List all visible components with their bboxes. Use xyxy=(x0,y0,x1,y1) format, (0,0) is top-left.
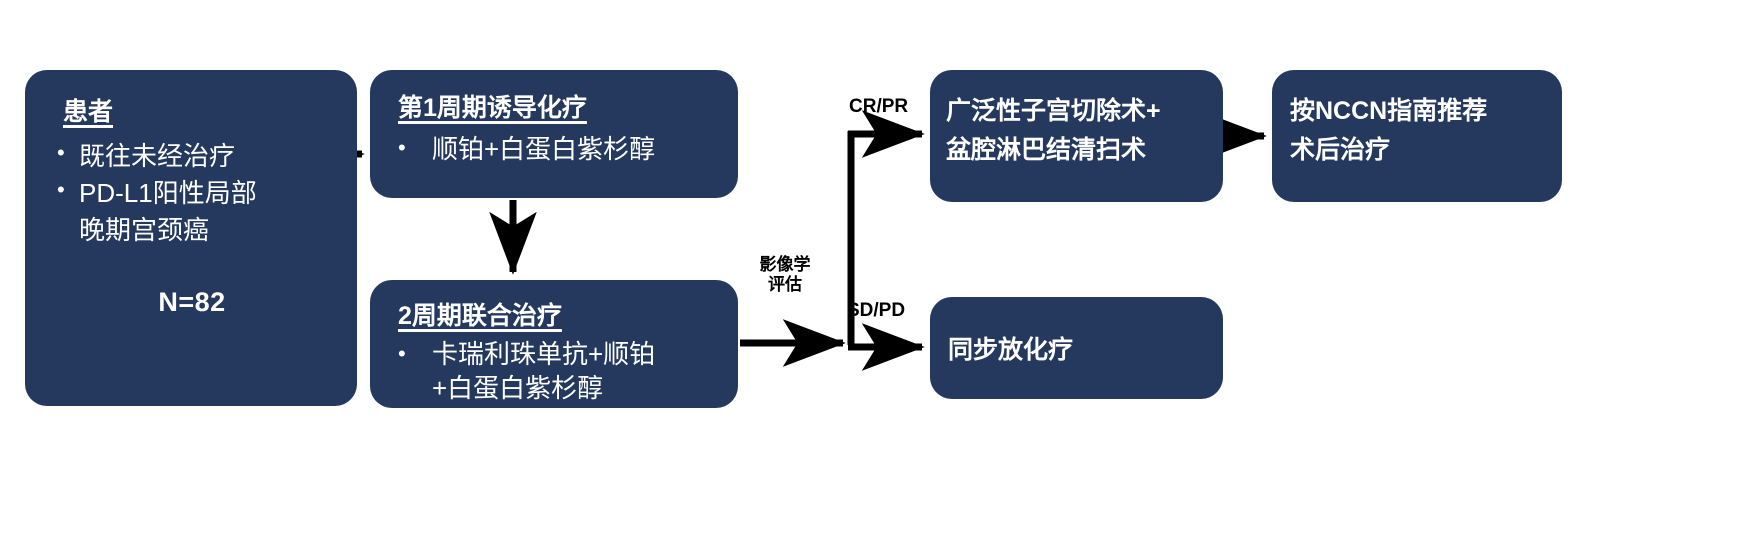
edge-label-imaging-line-2: 评估 xyxy=(748,275,822,295)
bullet-glyph-icon: • xyxy=(398,132,432,159)
node-combination-bullet-1-line-1: 卡瑞利珠单抗+顺铂 xyxy=(432,339,655,369)
node-induction-title: 第1周期诱导化疗 xyxy=(398,88,722,124)
node-induction-bullet-1-text: 顺铂+白蛋白紫杉醇 xyxy=(432,132,722,167)
node-nccn-line-2: 术后治疗 xyxy=(1290,131,1548,170)
node-patients-sample-size: N=82 xyxy=(47,287,337,318)
edge-label-imaging-line-1: 影像学 xyxy=(748,255,822,275)
flowchart-canvas: 患者 • 既往未经治疗 • PD-L1阳性局部 晚期宫颈癌 N=82 第1周期诱… xyxy=(0,0,1738,537)
node-nccn-line-1: 按NCCN指南推荐 xyxy=(1290,92,1548,131)
node-patients-bullet-2-line-2: 晚期宫颈癌 xyxy=(79,215,209,245)
bullet-glyph-icon: • xyxy=(398,338,432,365)
node-concurrent-chemoradiotherapy[interactable]: 同步放化疗 xyxy=(930,297,1223,399)
edge-label-sdpd: SD/PD xyxy=(847,300,905,322)
node-patients-bullet-2-line-1: PD-L1阳性局部 xyxy=(79,178,257,208)
node-combination-title: 2周期联合治疗 xyxy=(398,296,724,332)
bullet-glyph-icon: • xyxy=(57,138,79,164)
node-combination-bullet-1-line-2: +白蛋白紫杉醇 xyxy=(432,373,603,403)
node-combination-bullet-1: • 卡瑞利珠单抗+顺铂 +白蛋白紫杉醇 xyxy=(398,338,724,406)
node-combination-therapy[interactable]: 2周期联合治疗 • 卡瑞利珠单抗+顺铂 +白蛋白紫杉醇 xyxy=(370,280,738,408)
node-patients-bullet-2-text: PD-L1阳性局部 晚期宫颈癌 xyxy=(79,175,337,249)
edge-label-imaging-assessment: 影像学 评估 xyxy=(748,255,822,294)
node-nccn-postop-therapy[interactable]: 按NCCN指南推荐 术后治疗 xyxy=(1272,70,1562,202)
node-patients-title: 患者 xyxy=(63,92,337,128)
node-patients-bullet-2: • PD-L1阳性局部 晚期宫颈癌 xyxy=(57,175,337,249)
node-ccrt-text: 同步放化疗 xyxy=(948,330,1073,366)
node-patients-bullet-1: • 既往未经治疗 xyxy=(57,138,337,175)
edge-label-crpr: CR/PR xyxy=(849,96,908,118)
node-induction-chemo[interactable]: 第1周期诱导化疗 • 顺铂+白蛋白紫杉醇 xyxy=(370,70,738,198)
node-surgery-line-2: 盆腔淋巴结清扫术 xyxy=(946,131,1209,170)
node-patients[interactable]: 患者 • 既往未经治疗 • PD-L1阳性局部 晚期宫颈癌 N=82 xyxy=(25,70,357,406)
node-induction-bullet-1: • 顺铂+白蛋白紫杉醇 xyxy=(398,132,722,167)
node-radical-surgery[interactable]: 广泛性子宫切除术+ 盆腔淋巴结清扫术 xyxy=(930,70,1223,202)
node-combination-bullet-1-text: 卡瑞利珠单抗+顺铂 +白蛋白紫杉醇 xyxy=(432,338,724,406)
bullet-glyph-icon: • xyxy=(57,175,79,201)
node-surgery-line-1: 广泛性子宫切除术+ xyxy=(946,92,1209,131)
node-patients-bullet-1-text: 既往未经治疗 xyxy=(79,138,337,175)
